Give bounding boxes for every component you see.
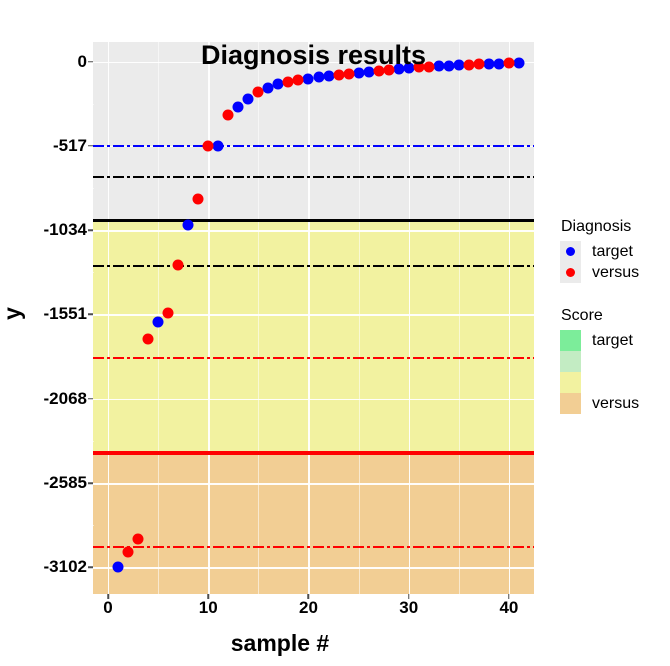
legend-item-score[interactable] — [560, 351, 670, 372]
reference-line-solid — [93, 451, 534, 454]
data-point-target — [183, 219, 194, 230]
x-tick-label: 40 — [499, 598, 518, 618]
y-tick-label: -517 — [53, 136, 87, 156]
x-axis-label: sample # — [0, 630, 560, 657]
gridline-y-major — [93, 483, 534, 484]
legend-group-score: Score targetversus — [560, 307, 670, 414]
legend-color-swatch — [560, 351, 581, 372]
x-tick-mark — [107, 594, 109, 599]
gridline-y-minor — [93, 441, 94, 442]
legend-item-score[interactable] — [560, 372, 670, 393]
reference-line-solid — [93, 219, 534, 222]
data-point-versus — [253, 86, 264, 97]
gridline-x-major — [108, 42, 109, 594]
reference-line-dashdot — [93, 357, 534, 359]
legend-color-swatch — [560, 330, 581, 351]
data-point-target — [513, 57, 524, 68]
legend-label: target — [592, 332, 633, 350]
gridline-x-major — [509, 42, 510, 594]
circle-icon — [566, 247, 575, 256]
data-point-versus — [163, 307, 174, 318]
chart-root: y 0-517-1034-1551-2068-2585-3102 Diagnos… — [0, 0, 670, 666]
legend-label: versus — [592, 264, 639, 282]
legend-title-diagnosis: Diagnosis — [561, 218, 670, 236]
plot-panel — [93, 42, 534, 594]
gridline-y-minor — [93, 525, 94, 526]
legend-item-target[interactable]: target — [560, 241, 670, 262]
gridline-x-major — [208, 42, 209, 594]
data-point-versus — [143, 333, 154, 344]
y-tick-label: -2068 — [44, 389, 87, 409]
x-tick-label: 0 — [103, 598, 112, 618]
reference-line-dashdot — [93, 265, 534, 267]
data-point-versus — [203, 141, 214, 152]
data-point-versus — [293, 74, 304, 85]
y-tick-label: 0 — [78, 52, 87, 72]
legend-key-dot-icon — [560, 241, 581, 262]
data-point-versus — [223, 110, 234, 121]
y-tick-label: -2585 — [44, 473, 87, 493]
data-point-target — [113, 562, 124, 573]
gridline-y-major — [93, 567, 534, 568]
legend-color-swatch — [560, 393, 581, 414]
x-tick-label: 30 — [399, 598, 418, 618]
gridline-y-minor — [93, 104, 94, 105]
data-point-versus — [473, 59, 484, 70]
legend-label: target — [592, 243, 633, 261]
y-tick-label: -1551 — [44, 304, 87, 324]
x-tick-mark — [208, 594, 210, 599]
legend-items-score: targetversus — [560, 330, 670, 414]
gridline-x-major — [308, 42, 309, 594]
y-tick-label: -3102 — [44, 557, 87, 577]
legend-title-score: Score — [561, 307, 670, 325]
legend-items-diagnosis: targetversus — [560, 241, 670, 283]
circle-icon — [566, 268, 575, 277]
legend-item-score-versus[interactable]: versus — [560, 393, 670, 414]
legend-label: versus — [592, 395, 639, 413]
x-tick-label: 10 — [199, 598, 218, 618]
gridline-x-minor — [459, 42, 460, 594]
score-band-yellow — [93, 221, 534, 453]
gridline-y-major — [93, 399, 534, 400]
legend-key-dot-icon — [560, 262, 581, 283]
legend-item-versus[interactable]: versus — [560, 262, 670, 283]
score-band-orange — [93, 453, 534, 594]
x-tick-mark — [408, 594, 410, 599]
gridline-x-major — [409, 42, 410, 594]
data-point-target — [153, 316, 164, 327]
gridline-y-major — [93, 230, 534, 231]
data-point-versus — [133, 533, 144, 544]
gridline-x-minor — [359, 42, 360, 594]
legend-color-swatch — [560, 372, 581, 393]
data-point-versus — [383, 64, 394, 75]
x-tick-mark — [508, 594, 510, 599]
data-point-target — [213, 140, 224, 151]
data-point-versus — [193, 193, 204, 204]
data-point-target — [243, 94, 254, 105]
data-point-versus — [343, 68, 354, 79]
legend: Diagnosis targetversus Score targetversu… — [560, 218, 670, 414]
data-point-versus — [173, 260, 184, 271]
gridline-y-minor — [93, 188, 94, 189]
reference-line-dashdot — [93, 176, 534, 178]
y-axis-label: y — [0, 307, 26, 320]
legend-item-score-target[interactable]: target — [560, 330, 670, 351]
reference-line-dashdot — [93, 546, 534, 548]
data-point-versus — [423, 61, 434, 72]
y-tick-label: -1034 — [44, 220, 87, 240]
x-tick-mark — [308, 594, 310, 599]
data-point-target — [233, 102, 244, 113]
legend-group-diagnosis: Diagnosis targetversus — [560, 218, 670, 283]
reference-line-dashdot — [93, 145, 534, 147]
gridline-x-minor — [258, 42, 259, 594]
x-tick-label: 20 — [299, 598, 318, 618]
data-point-versus — [123, 546, 134, 557]
gridline-y-minor — [93, 272, 94, 273]
data-point-versus — [503, 58, 514, 69]
